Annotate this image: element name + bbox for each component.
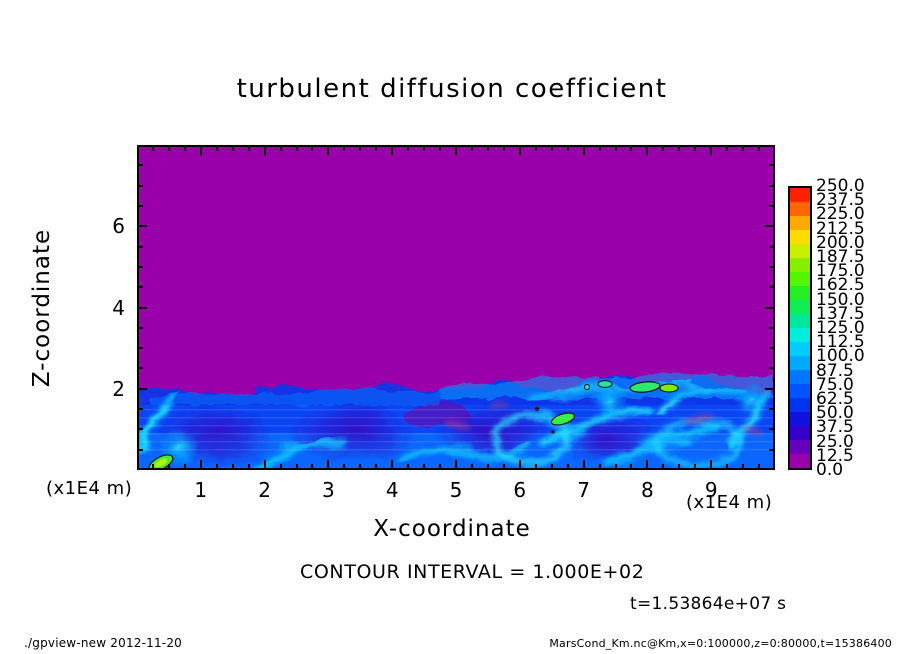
x-tick-mark	[615, 464, 617, 470]
x-tick-mark	[487, 464, 489, 470]
y-tick-mark	[769, 408, 775, 410]
y-tick-mark	[769, 347, 775, 349]
x-tick-label: 6	[500, 478, 540, 502]
x-tick-mark	[678, 145, 680, 151]
colorbar-band	[790, 426, 810, 440]
x-tick-mark	[216, 464, 218, 470]
colorbar-band	[790, 384, 810, 398]
x-tick-mark	[311, 145, 313, 151]
x-tick-mark	[471, 145, 473, 151]
x-tick-mark	[264, 145, 266, 155]
x-tick-mark	[359, 145, 361, 151]
x-tick-mark	[327, 145, 329, 155]
y-tick-mark	[765, 225, 775, 227]
colorbar-band	[790, 202, 810, 216]
colorbar-band	[790, 314, 810, 328]
y-axis-unit-label: (x1E4 m)	[46, 478, 132, 499]
colorbar-band	[790, 440, 810, 454]
x-tick-mark	[391, 460, 393, 470]
y-tick-mark	[769, 367, 775, 369]
x-tick-mark	[168, 464, 170, 470]
x-tick-mark	[327, 460, 329, 470]
x-tick-mark	[439, 145, 441, 151]
x-tick-mark	[152, 464, 154, 470]
x-tick-mark	[535, 145, 537, 151]
x-tick-label: 1	[181, 478, 221, 502]
y-tick-mark	[137, 307, 147, 309]
x-tick-mark	[248, 145, 250, 151]
x-tick-mark	[694, 464, 696, 470]
x-tick-mark	[471, 464, 473, 470]
x-tick-label: 2	[245, 478, 285, 502]
x-tick-mark	[758, 464, 760, 470]
x-tick-mark	[216, 145, 218, 151]
x-tick-mark	[678, 464, 680, 470]
y-tick-mark	[137, 388, 147, 390]
x-tick-mark	[343, 145, 345, 151]
y-tick-label: 6	[95, 214, 125, 238]
x-tick-mark	[726, 145, 728, 151]
y-tick-mark	[769, 164, 775, 166]
footer-command-label: ./gpview-new 2012-11-20	[24, 636, 182, 650]
colorbar-band	[790, 370, 810, 384]
y-tick-mark	[137, 286, 143, 288]
x-tick-mark	[662, 464, 664, 470]
y-tick-mark	[137, 449, 143, 451]
x-tick-mark	[630, 145, 632, 151]
x-tick-mark	[423, 145, 425, 151]
y-tick-mark	[137, 408, 143, 410]
x-tick-mark	[599, 464, 601, 470]
x-tick-mark	[726, 464, 728, 470]
y-tick-label: 2	[95, 377, 125, 401]
x-tick-mark	[455, 145, 457, 155]
x-tick-mark	[439, 464, 441, 470]
y-tick-mark	[769, 205, 775, 207]
x-tick-mark	[583, 460, 585, 470]
x-tick-mark	[503, 464, 505, 470]
colorbar-band	[790, 342, 810, 356]
x-tick-mark	[742, 464, 744, 470]
y-tick-label: 4	[95, 296, 125, 320]
x-tick-mark	[264, 460, 266, 470]
colorbar-band	[790, 328, 810, 342]
colorbar-band	[790, 272, 810, 286]
x-tick-mark	[184, 464, 186, 470]
x-tick-label: 4	[372, 478, 412, 502]
colorbar-band	[790, 188, 810, 202]
x-tick-mark	[200, 145, 202, 155]
y-tick-mark	[137, 428, 143, 430]
x-tick-mark	[407, 145, 409, 151]
x-tick-mark	[599, 145, 601, 151]
y-tick-mark	[769, 185, 775, 187]
x-axis-title: X-coordinate	[0, 516, 904, 542]
x-tick-mark	[646, 460, 648, 470]
y-tick-mark	[137, 164, 143, 166]
x-tick-mark	[280, 464, 282, 470]
x-tick-mark	[567, 464, 569, 470]
colorbar-band	[790, 398, 810, 412]
y-tick-mark	[137, 327, 143, 329]
x-tick-mark	[583, 145, 585, 155]
x-tick-mark	[423, 464, 425, 470]
x-tick-mark	[311, 464, 313, 470]
x-tick-mark	[758, 145, 760, 151]
y-tick-mark	[137, 347, 143, 349]
colorbar-band	[790, 412, 810, 426]
x-tick-mark	[519, 145, 521, 155]
colorbar-band	[790, 216, 810, 230]
x-tick-label: 3	[308, 478, 348, 502]
x-tick-mark	[184, 145, 186, 151]
y-tick-mark	[137, 185, 143, 187]
y-tick-mark	[769, 327, 775, 329]
y-tick-mark	[137, 225, 147, 227]
x-axis-unit-label: (x1E4 m)	[686, 492, 772, 513]
plot-area	[137, 145, 775, 470]
x-tick-mark	[455, 460, 457, 470]
x-tick-mark	[487, 145, 489, 151]
x-tick-mark	[232, 464, 234, 470]
x-tick-mark	[359, 464, 361, 470]
x-tick-mark	[742, 145, 744, 151]
page-title: turbulent diffusion coefficient	[0, 74, 904, 104]
colorbar-band	[790, 244, 810, 258]
x-tick-mark	[646, 145, 648, 155]
x-tick-mark	[630, 464, 632, 470]
y-tick-mark	[769, 286, 775, 288]
x-tick-label: 8	[627, 478, 667, 502]
y-axis-title: Z-coordinate	[29, 208, 55, 408]
x-tick-mark	[535, 464, 537, 470]
turbulence-field-heatmap	[139, 147, 773, 468]
x-tick-mark	[710, 460, 712, 470]
x-tick-mark	[391, 145, 393, 155]
contour-interval-label: CONTOUR INTERVAL = 1.000E+02	[300, 561, 644, 583]
x-tick-mark	[567, 145, 569, 151]
x-tick-mark	[343, 464, 345, 470]
colorbar	[788, 186, 812, 470]
y-tick-mark	[137, 367, 143, 369]
x-tick-mark	[551, 145, 553, 151]
colorbar-band	[790, 286, 810, 300]
y-tick-mark	[137, 266, 143, 268]
y-tick-mark	[137, 246, 143, 248]
y-tick-mark	[765, 388, 775, 390]
x-tick-mark	[710, 145, 712, 155]
footer-dataset-label: MarsCond_Km.nc@Km,x=0:100000,z=0:80000,t…	[549, 637, 892, 650]
colorbar-band	[790, 230, 810, 244]
y-tick-mark	[769, 266, 775, 268]
x-tick-mark	[519, 460, 521, 470]
x-tick-label: 5	[436, 478, 476, 502]
colorbar-band	[790, 356, 810, 370]
x-tick-mark	[168, 145, 170, 151]
y-tick-mark	[765, 307, 775, 309]
x-tick-mark	[232, 145, 234, 151]
y-tick-mark	[137, 205, 143, 207]
y-tick-mark	[769, 428, 775, 430]
x-tick-mark	[296, 464, 298, 470]
x-tick-mark	[694, 145, 696, 151]
y-tick-mark	[769, 246, 775, 248]
x-tick-mark	[615, 145, 617, 151]
x-tick-label: 7	[564, 478, 604, 502]
x-tick-mark	[662, 145, 664, 151]
x-tick-mark	[375, 464, 377, 470]
x-tick-mark	[280, 145, 282, 151]
y-tick-mark	[769, 449, 775, 451]
x-tick-mark	[296, 145, 298, 151]
x-tick-mark	[200, 460, 202, 470]
x-tick-mark	[248, 464, 250, 470]
colorbar-band	[790, 454, 810, 468]
colorbar-band	[790, 258, 810, 272]
colorbar-band	[790, 300, 810, 314]
timestamp-label: t=1.53864e+07 s	[630, 594, 786, 614]
x-tick-mark	[551, 464, 553, 470]
colorbar-labels: 250.0237.5225.0212.5200.0187.5175.0162.5…	[816, 179, 896, 477]
x-tick-mark	[503, 145, 505, 151]
x-tick-mark	[375, 145, 377, 151]
x-tick-mark	[407, 464, 409, 470]
colorbar-tick-label: 0.0	[816, 462, 843, 479]
x-tick-mark	[152, 145, 154, 151]
